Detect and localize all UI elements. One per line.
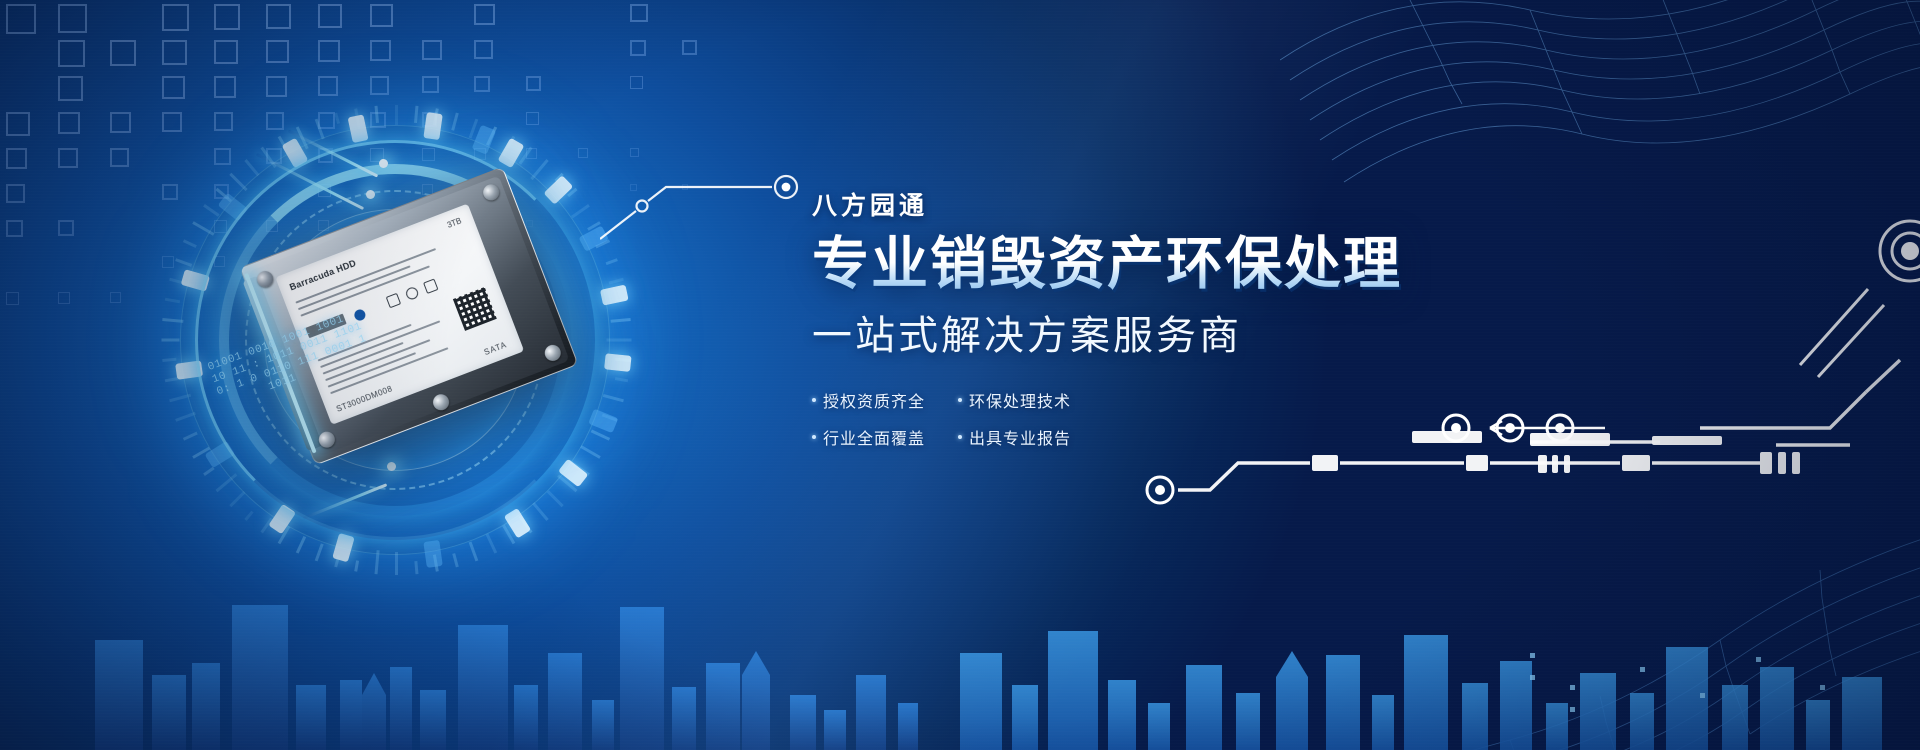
feature-label: 行业全面覆盖: [823, 425, 925, 449]
hdd-label-capacity: 3TB: [446, 216, 463, 230]
feature-label: 环保处理技术: [969, 388, 1071, 412]
light-beam-dot: [366, 190, 375, 199]
hdd-label-interface: SATA: [483, 340, 508, 357]
headline: 专业销毁资产环保处理: [812, 234, 1552, 294]
bullet-icon: [812, 435, 816, 439]
feature-label: 出具专业报告: [969, 425, 1071, 449]
bullet-icon: [958, 398, 962, 402]
feature-label: 授权资质齐全: [823, 388, 925, 412]
banner-copy-block: 八方园通 专业销毁资产环保处理 一站式解决方案服务商 授权资质齐全 环保处理技术…: [812, 186, 1552, 449]
bullet-icon: [812, 398, 816, 402]
subheadline: 一站式解决方案服务商: [812, 303, 1552, 361]
promo-banner: Barracuda HDD 3TB ST3000DM008 SATA 010: [0, 0, 1920, 750]
bullet-icon: [958, 435, 962, 439]
light-beam-dot: [387, 462, 396, 471]
feature-list: 授权资质齐全 环保处理技术 行业全面覆盖 出具专业报告: [812, 388, 1552, 449]
connector-line-decoration: [600, 165, 830, 245]
feature-item: 出具专业报告: [958, 425, 1086, 449]
circuit-node-decoration: [1760, 215, 1920, 385]
brand-name: 八方园通: [812, 186, 1552, 222]
feature-item: 行业全面覆盖: [812, 425, 940, 449]
feature-item: 环保处理技术: [958, 388, 1086, 412]
light-beam-dot: [379, 159, 388, 168]
city-skyline-decoration: [0, 535, 1920, 750]
feature-item: 授权资质齐全: [812, 388, 940, 412]
